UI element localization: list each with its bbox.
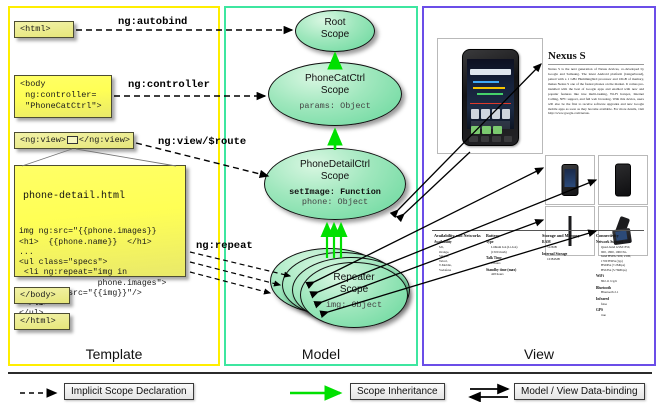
code-box-ngview: <ng:view></ng:view> (14, 132, 134, 149)
screen-line-2 (473, 87, 505, 89)
thumb-back-glyph (615, 164, 631, 197)
spec-value-1-2-0: 428 hours (486, 272, 536, 276)
screen-dock (471, 121, 510, 129)
connector-label-repeat: ng:repeat (196, 240, 253, 252)
connector-label-controller: ng:controller (128, 79, 210, 91)
scope-phonecatctrl-title-1: PhoneCatCtrl (305, 73, 365, 84)
legend-item-0: Implicit Scope Declaration (18, 383, 64, 402)
connector-label-autobind: ng:autobind (118, 16, 187, 28)
spec-value-2-1-0: 16384MB (542, 257, 592, 261)
phone-screen (467, 59, 514, 129)
scope-phonecatctrl: PhoneCatCtrlScope params: Object (268, 62, 402, 126)
spec-value-1-0-1: (1500 mAh) (486, 250, 536, 254)
diagram-canvas: Template Model View <html> <body ng:cont… (0, 0, 660, 420)
spec-value-0-0-5: Vodafone (434, 268, 484, 272)
legend-item-2: Model / View Data-binding (468, 383, 514, 402)
phone-urlbar (470, 69, 511, 75)
screen-line-4 (470, 103, 511, 104)
spec-value-2-0-0: 512MB (542, 245, 592, 249)
column-label-model: Model (226, 346, 416, 362)
legend-label-2: Model / View Data-binding (514, 383, 645, 400)
phone-thumbnail-1[interactable] (598, 155, 648, 205)
product-description: Nexus S is the next generation of Nexus … (548, 67, 644, 133)
thumb-front-glyph (562, 164, 579, 196)
spec-heading-2: Storage and Memory (542, 233, 592, 238)
phone-hero-frame (437, 38, 543, 154)
scope-root-title-2: Scope (321, 29, 349, 40)
screen-line-1 (473, 81, 499, 83)
scope-repeater-prop-0: img: Object (301, 300, 407, 310)
spec-value-3-4-0: true (596, 313, 644, 317)
code-box-html-close: </html> (14, 313, 70, 330)
scope-repeater: RepeaterScope img: Object (300, 262, 408, 328)
spec-value-3-0-5: HSUPA (5.76Mbps) (596, 268, 644, 272)
legend-item-1: Scope Inheritance (288, 383, 348, 402)
scope-phonedetailctrl-title-2: Scope (321, 171, 349, 182)
scope-phonedetailctrl-prop-0: setImage: Function (265, 187, 405, 197)
spec-value-1-1-0: 6 hours (486, 261, 536, 265)
spec-value-3-1-0: 802.11 b/g/n (596, 279, 644, 283)
spec-table-divider (432, 230, 644, 231)
spec-column-2: Storage and Memory RAM 512MB Internal St… (542, 233, 592, 261)
scope-phonecatctrl-title-2: Scope (321, 85, 349, 96)
screen-app-icons (471, 109, 510, 119)
spec-column-0: Availability and Networks Availability M… (434, 233, 484, 272)
legend-label-1: Scope Inheritance (350, 383, 445, 400)
phone-hardware-buttons (469, 136, 512, 142)
spec-heading-1: Battery (486, 233, 536, 238)
legend-glyph-dashed-arrow (18, 383, 64, 402)
spec-heading-3: Connectivity (596, 233, 644, 238)
product-title: Nexus S (548, 50, 644, 62)
code-box-phone-detail: phone-detail.html img ng:src="{{phone.im… (14, 165, 186, 277)
scope-root: RootScope (295, 10, 375, 52)
connector-label-view-route: ng:view/$route (158, 136, 246, 148)
scope-phonedetailctrl: PhoneDetailCtrlScope setImage: Function … (264, 148, 406, 220)
ngview-close-tag: </ng:view> (79, 135, 130, 145)
spec-heading-0: Availability and Networks (434, 233, 484, 238)
scope-repeater-title-1: Repeater (333, 272, 374, 283)
scope-repeater-title-2: Scope (340, 284, 368, 295)
phone-thumbnail-0[interactable] (545, 155, 595, 205)
code-box-body-open: <body ng:controller= "PhoneCatCtrl"> (14, 75, 112, 118)
scope-phonedetailctrl-title-1: PhoneDetailCtrl (300, 159, 370, 170)
legend-divider (8, 372, 652, 374)
legend-glyph-solid-arrow (288, 383, 348, 402)
ngview-open-tag: <ng:view> (20, 135, 66, 145)
column-label-view: View (424, 346, 654, 362)
code-box-html-open: <html> (14, 21, 74, 38)
spec-value-3-3-0: false (596, 302, 644, 306)
spec-table: Availability and Networks Availability M… (432, 233, 644, 328)
spec-value-3-2-0: Bluetooth 2.1 (596, 290, 644, 294)
legend-glyph-double-arrow (468, 383, 514, 402)
title-divider (548, 64, 644, 65)
code-box-body-close: </body> (14, 287, 70, 304)
scope-phonecatctrl-prop-0: params: Object (269, 101, 401, 111)
spec-column-3: Connectivity Network Support Quad-band G… (596, 233, 644, 318)
spec-column-1: Battery Type Lithium Ion (Li-Ion) (1500 … (486, 233, 536, 277)
screen-line-3 (477, 93, 503, 95)
scope-phonedetailctrl-prop-1: phone: Object (265, 197, 405, 207)
phone-detail-filename: phone-detail.html (15, 188, 185, 206)
ngview-placeholder-rect (67, 136, 78, 144)
legend-label-0: Implicit Scope Declaration (64, 383, 194, 400)
phone-hero-image (462, 49, 519, 146)
scope-root-title-1: Root (324, 17, 345, 28)
